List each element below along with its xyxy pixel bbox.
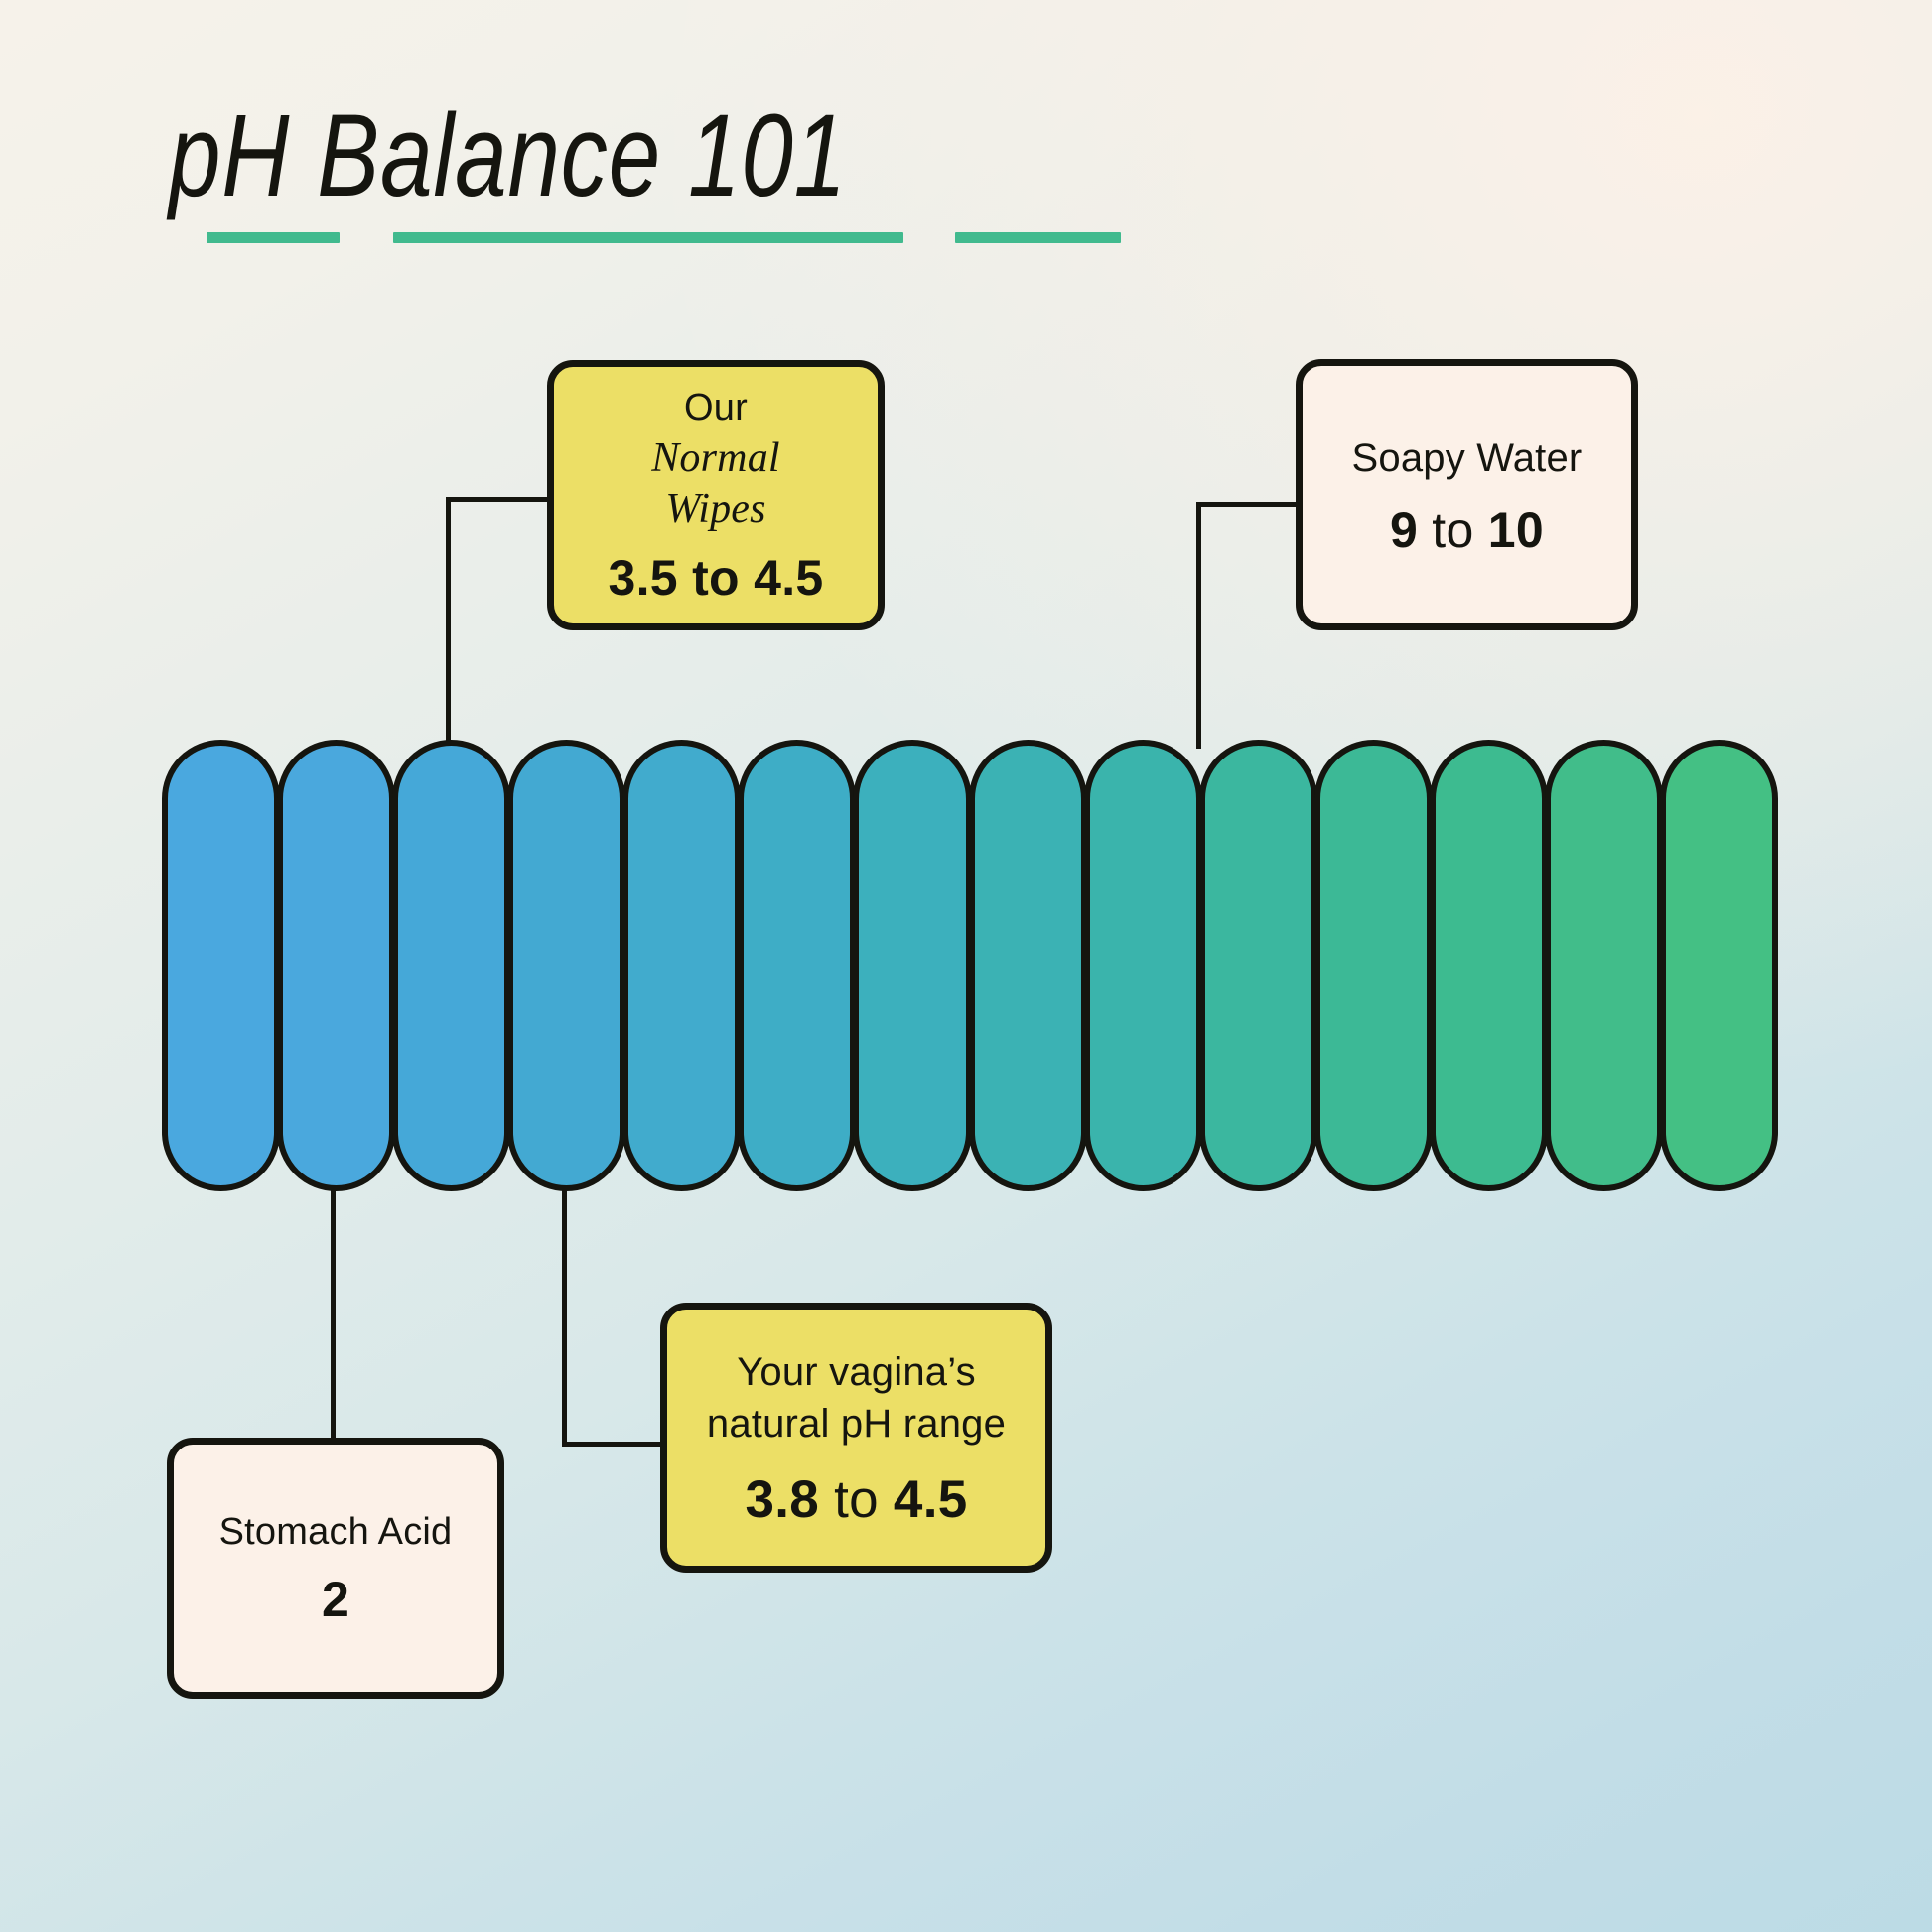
callout-soapy-water[interactable]: Soapy Water 9 to 10 <box>1296 359 1638 630</box>
ph-pill[interactable] <box>853 740 971 1191</box>
page-title: pH Balance 101 <box>169 97 1122 214</box>
connector-stomach-acid-vertical <box>331 1181 336 1442</box>
ph-pill[interactable] <box>1199 740 1317 1191</box>
ph-pill[interactable] <box>277 740 395 1191</box>
page-title-block: pH Balance 101 <box>169 97 1360 214</box>
connector-normal-wipes-vertical <box>446 497 451 746</box>
callout-natural-ph-value-sep: to <box>819 1470 894 1529</box>
callout-soapy-water-value-low: 9 <box>1390 502 1418 558</box>
title-underline-segment-1 <box>207 232 340 243</box>
callout-natural-ph-line2: natural pH range <box>707 1398 1006 1449</box>
callout-natural-ph-value-low: 3.8 <box>745 1470 819 1529</box>
ph-pill[interactable] <box>969 740 1087 1191</box>
ph-pill[interactable] <box>507 740 625 1191</box>
ph-pill[interactable] <box>1314 740 1433 1191</box>
callout-stomach-acid-line1: Stomach Acid <box>219 1508 453 1557</box>
callout-natural-ph-line1: Your vagina’s <box>737 1346 976 1398</box>
callout-soapy-water-line1: Soapy Water <box>1352 432 1583 483</box>
callout-normal-wipes[interactable]: Our Normal Wipes 3.5 to 4.5 <box>547 360 885 630</box>
infographic-canvas: pH Balance 101 Our Normal Wipe <box>0 0 1932 1932</box>
callout-stomach-acid-value: 2 <box>322 1571 349 1628</box>
ph-pill[interactable] <box>1545 740 1663 1191</box>
connector-soapy-water-horizontal <box>1196 502 1301 507</box>
ph-pill[interactable] <box>622 740 741 1191</box>
ph-scale-bar <box>162 740 1778 1191</box>
ph-pill[interactable] <box>1660 740 1778 1191</box>
callout-soapy-water-value: 9 to 10 <box>1390 501 1544 559</box>
callout-normal-wipes-line2: Normal <box>651 433 780 483</box>
title-underline-segment-3 <box>955 232 1121 243</box>
callout-natural-ph-value: 3.8 to 4.5 <box>745 1469 967 1530</box>
ph-pill[interactable] <box>1084 740 1202 1191</box>
ph-pill[interactable] <box>738 740 856 1191</box>
title-underline-group <box>169 232 1261 248</box>
callout-soapy-water-value-sep: to <box>1418 502 1488 558</box>
callout-normal-wipes-line3: Wipes <box>665 484 765 535</box>
callout-natural-ph-range[interactable]: Your vagina’s natural pH range 3.8 to 4.… <box>660 1303 1052 1573</box>
ph-pill[interactable] <box>392 740 510 1191</box>
callout-normal-wipes-line1: Our <box>684 384 748 433</box>
callout-normal-wipes-value: 3.5 to 4.5 <box>609 549 824 607</box>
ph-pill[interactable] <box>1430 740 1548 1191</box>
connector-soapy-water-vertical <box>1196 502 1201 749</box>
title-underline-segment-2 <box>393 232 903 243</box>
connector-normal-wipes-horizontal <box>446 497 550 502</box>
callout-stomach-acid[interactable]: Stomach Acid 2 <box>167 1438 504 1699</box>
callout-natural-ph-value-high: 4.5 <box>894 1470 968 1529</box>
ph-pill[interactable] <box>162 740 280 1191</box>
connector-natural-ph-vertical <box>562 1181 567 1445</box>
connector-natural-ph-horizontal <box>562 1442 666 1447</box>
callout-soapy-water-value-high: 10 <box>1488 502 1544 558</box>
